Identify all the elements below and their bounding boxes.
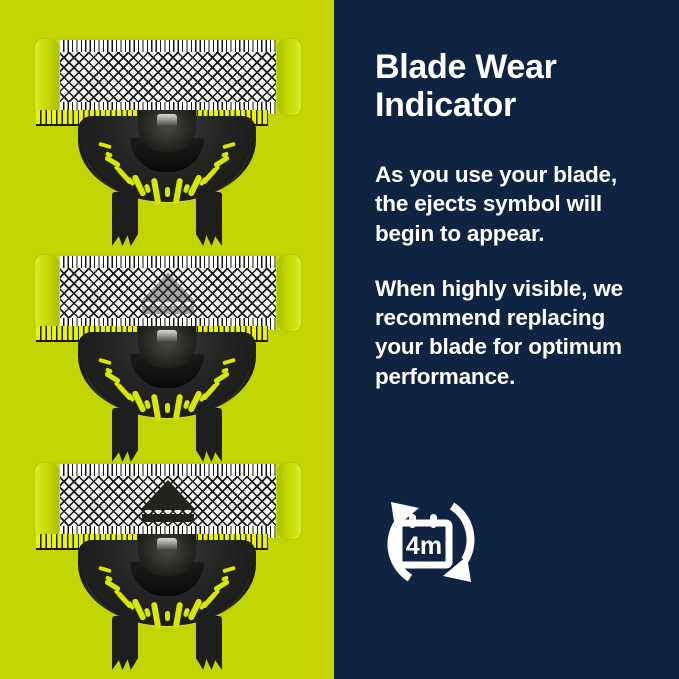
cartridge-end-cap-right xyxy=(277,39,301,115)
blade-housing xyxy=(60,332,274,452)
wear-gauge-tick xyxy=(165,403,170,413)
housing-leg-right xyxy=(196,192,222,246)
housing-leg-left xyxy=(112,616,138,670)
housing-leg-left xyxy=(112,192,138,246)
eject-symbol xyxy=(139,480,197,524)
housing-leg-left xyxy=(112,408,138,462)
product-image-panel xyxy=(0,0,334,679)
cartridge-end-cap-left xyxy=(35,463,59,539)
wear-gauge-tick xyxy=(165,187,170,197)
page-title: Blade Wear Indicator xyxy=(375,48,653,124)
comb-teeth-top xyxy=(60,464,276,476)
housing-leg-right xyxy=(196,616,222,670)
blade-housing xyxy=(60,540,274,660)
cartridge-end-cap-left xyxy=(35,39,59,115)
calendar-duration-text: 4m xyxy=(406,532,442,560)
blade-stage-1 xyxy=(0,32,334,244)
eject-bar xyxy=(142,514,194,522)
body-paragraph-1: As you use your blade, the ejects symbol… xyxy=(375,160,653,248)
blade-stage-3 xyxy=(0,456,334,668)
blade-cartridge xyxy=(34,462,302,540)
replace-every-4-months-icon: 4m xyxy=(375,486,487,598)
cartridge-end-cap-right xyxy=(277,255,301,331)
cartridge-end-cap-left xyxy=(35,255,59,331)
blade-stage-2 xyxy=(0,248,334,460)
infographic-poster: Blade Wear Indicator As you use your bla… xyxy=(0,0,679,679)
eject-triangle xyxy=(140,480,196,510)
eject-triangle xyxy=(140,272,196,302)
blade-cartridge xyxy=(34,38,302,116)
blade-housing xyxy=(60,116,274,236)
body-paragraph-2: When highly visible, we recommend replac… xyxy=(375,274,653,391)
housing-leg-right xyxy=(196,408,222,462)
eject-symbol xyxy=(139,272,197,316)
eject-bar xyxy=(142,306,194,314)
comb-teeth-top xyxy=(60,256,276,268)
comb-teeth-top xyxy=(60,40,276,52)
cartridge-end-cap-right xyxy=(277,463,301,539)
wear-gauge-tick xyxy=(165,611,170,621)
text-panel: Blade Wear Indicator As you use your bla… xyxy=(334,0,679,679)
blade-cartridge xyxy=(34,254,302,332)
